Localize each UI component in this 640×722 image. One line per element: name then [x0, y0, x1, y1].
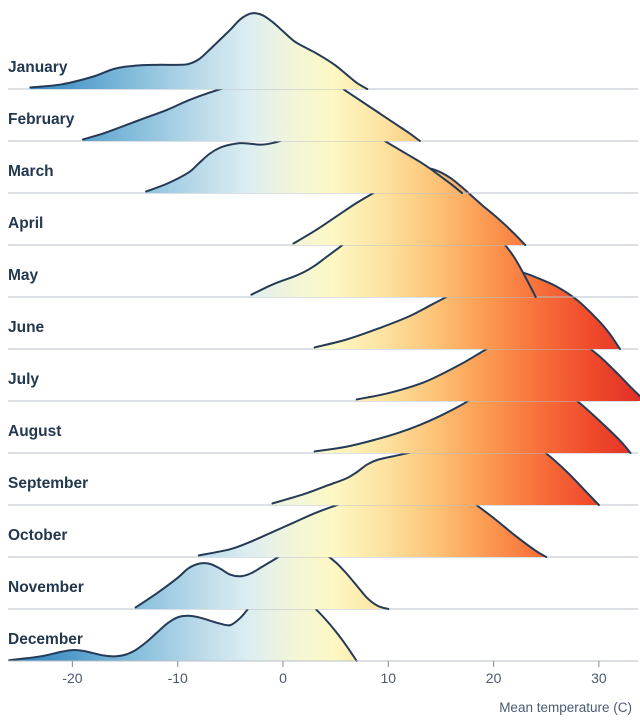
month-label-july: July — [8, 371, 39, 388]
x-axis-title: Mean temperature (C) — [499, 700, 632, 715]
x-axis-tick-label: 20 — [486, 670, 502, 686]
month-label-october: October — [8, 527, 67, 544]
x-axis-tick-label: -20 — [62, 670, 82, 686]
ridge-layer-group — [0, 5, 640, 663]
ridge-fill — [0, 5, 640, 91]
ridge-january — [0, 5, 640, 91]
month-label-group: JanuaryFebruaryMarchAprilMayJuneJulyAugu… — [8, 59, 88, 648]
x-axis: -20-100102030 — [8, 661, 638, 686]
ridgeline-plot-canvas: -20-100102030 JanuaryFebruaryMarchAprilM… — [0, 0, 640, 722]
x-axis-tick-label: -10 — [168, 670, 188, 686]
month-label-november: November — [8, 579, 84, 596]
month-label-february: February — [8, 111, 75, 128]
month-label-august: August — [8, 423, 61, 440]
month-label-may: May — [8, 267, 39, 284]
month-label-april: April — [8, 215, 43, 232]
month-label-december: December — [8, 631, 83, 648]
ridgeline-chart: -20-100102030 JanuaryFebruaryMarchAprilM… — [0, 0, 640, 722]
month-label-january: January — [8, 59, 68, 76]
x-axis-tick-label: 30 — [591, 670, 607, 686]
x-axis-tick-label: 0 — [279, 670, 287, 686]
month-label-june: June — [8, 319, 45, 336]
month-label-september: September — [8, 475, 88, 492]
month-label-march: March — [8, 163, 54, 180]
x-axis-tick-label: 10 — [381, 670, 397, 686]
